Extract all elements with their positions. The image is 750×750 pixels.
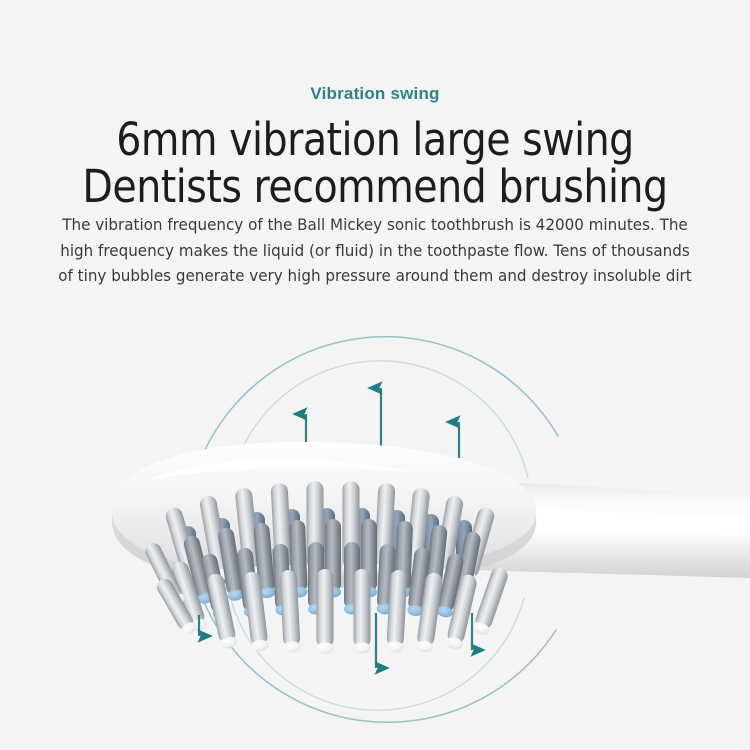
product-feature-page: Vibration swing 6mm vibration large swin… <box>0 0 750 750</box>
toothbrush-illustration <box>0 330 750 750</box>
headline-line-1: 6mm vibration large swing <box>45 116 705 163</box>
headline-line-2: Dentists recommend brushing <box>45 163 705 210</box>
page-title: 6mm vibration large swing Dentists recom… <box>0 116 750 210</box>
description-paragraph: The vibration frequency of the Ball Mick… <box>52 212 697 289</box>
section-eyebrow-label: Vibration swing <box>0 84 750 104</box>
